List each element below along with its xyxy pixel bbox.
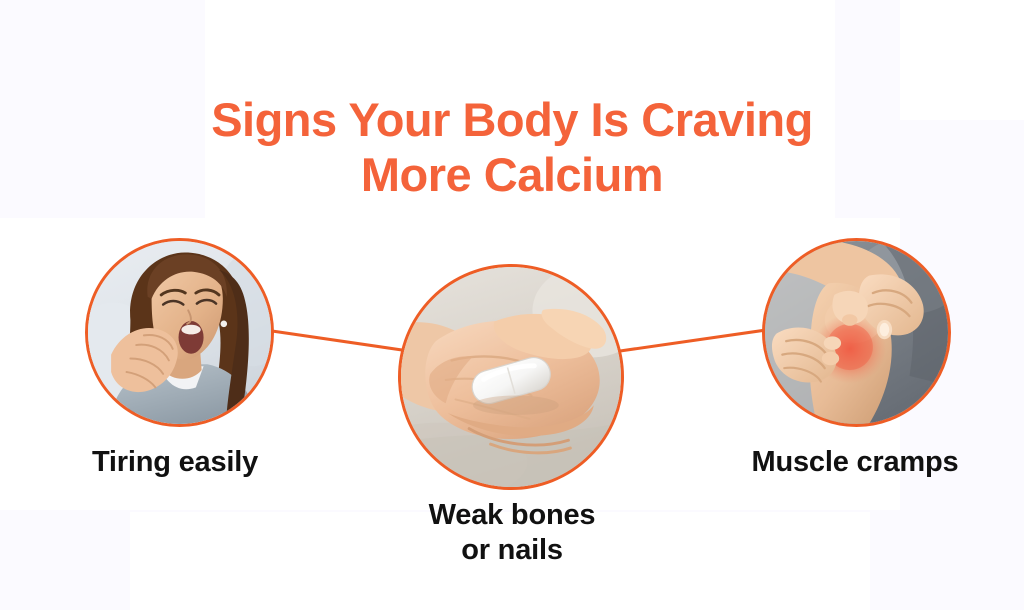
caption-tiring-easily: Tiring easily xyxy=(10,445,340,480)
illustration-hand-holding-pill xyxy=(401,267,621,487)
page-title-line-1: Signs Your Body Is Craving xyxy=(0,93,1024,148)
photo-circle-tiring-easily[interactable] xyxy=(85,238,274,427)
page-title-line-2: More Calcium xyxy=(0,148,1024,203)
connector-left-to-middle xyxy=(272,331,402,350)
caption-weak-bones-or-nails: Weak bones or nails xyxy=(386,498,638,569)
illustration-yawning-woman xyxy=(88,241,271,424)
page-title: Signs Your Body Is Craving More Calcium xyxy=(0,93,1024,202)
connector-middle-to-right xyxy=(620,330,766,351)
caption-muscle-cramps: Muscle cramps xyxy=(690,445,1020,480)
photo-circle-weak-bones-or-nails[interactable] xyxy=(398,264,624,490)
photo-circle-muscle-cramps[interactable] xyxy=(762,238,951,427)
illustration-leg-cramp xyxy=(765,241,948,424)
